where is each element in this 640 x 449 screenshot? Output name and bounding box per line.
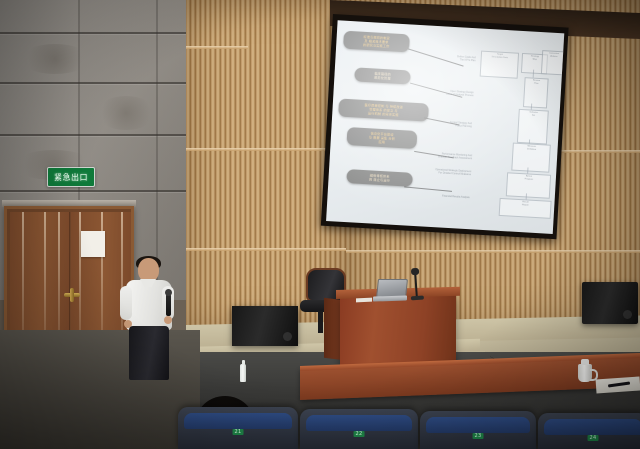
handheld-microphone — [166, 294, 171, 316]
slide-callout: 信息化平台建设与 数据 采集 分析应用 — [346, 127, 417, 149]
slide-callout: 医疗质量控制 与 持续改进管理体系 的建立 与运行机制 的完善实施 — [338, 98, 429, 122]
auditorium-seat[interactable]: 24 — [538, 413, 640, 449]
slide-flow-box: CorrectiveActions — [541, 50, 564, 75]
auditorium-seat[interactable]: 21 — [178, 407, 298, 449]
loudspeaker-right — [582, 282, 638, 324]
exit-sign-label: 紧急出口 — [54, 172, 88, 183]
presenter-arm-left — [120, 286, 132, 320]
seat-number: 21 — [233, 429, 244, 435]
auditorium-seat[interactable]: 22 — [300, 409, 418, 449]
screen-surface: 标准与规范的制定及 相关技术要求的研究与实施工作 临床路径的规范化管理 医疗质量… — [326, 20, 564, 234]
slide-flow-box: MeasureDefinition — [511, 143, 551, 173]
office-chair-post — [318, 311, 323, 333]
loudspeaker-left — [232, 306, 298, 346]
seat-number: 22 — [354, 431, 365, 437]
door-notice — [81, 231, 105, 257]
slide-flow-label: Performance Monitoring AndStrategic Feed… — [418, 151, 472, 161]
lecture-hall-photo: 标准与规范的制定及 相关技术要求的研究与实施工作 临床路径的规范化管理 医疗质量… — [0, 0, 640, 449]
slide-flow-label: Control Strategy AndPolicy Planning — [428, 120, 472, 129]
presenter-hand-right — [164, 316, 172, 324]
slide-flow-box: ActionProgram — [506, 172, 551, 198]
presenter — [118, 258, 180, 380]
lectern-papers — [356, 298, 372, 303]
seat-number: 23 — [473, 433, 484, 439]
lectern — [340, 295, 456, 367]
seat-number: 24 — [588, 435, 599, 441]
door-leaf-left[interactable] — [10, 212, 70, 348]
door-handle[interactable] — [64, 293, 80, 297]
slide-callout: 临床路径的规范化管理 — [354, 67, 411, 84]
slide-flow-box: ResultReport — [499, 198, 552, 219]
slide-callout: 标准与规范的制定及 相关技术要求的研究与实施工作 — [343, 31, 410, 53]
water-bottle — [240, 364, 246, 382]
slide-flow-box: IndicatorSet — [517, 109, 549, 145]
slide-flow-box: TargetDescription Data — [480, 51, 519, 79]
slide-flow-box: ReviewPlan — [523, 77, 549, 108]
projection-screen: 标准与规范的制定及 相关技术要求的研究与实施工作 临床路径的规范化管理 医疗质量… — [321, 14, 569, 239]
slide-flow-label: Open Strategy DesignLevel of Analysis Pr… — [425, 88, 473, 98]
slide-flow-label: Define Goals AndThe KPI's Plan — [431, 54, 475, 63]
presenter-trousers — [129, 326, 169, 380]
white-mug — [578, 364, 592, 382]
slide-flow-label: Operational Strategic DeploymentFor Deta… — [415, 167, 471, 177]
slide-flow-label: Financial Results Analysis — [424, 194, 470, 200]
presenter-head — [138, 258, 159, 282]
auditorium-seat[interactable]: 23 — [420, 411, 536, 449]
emergency-exit-sign: 紧急出口 — [47, 167, 95, 187]
slide-callout: 绩效考核体系的 建立与运行 — [346, 169, 413, 187]
